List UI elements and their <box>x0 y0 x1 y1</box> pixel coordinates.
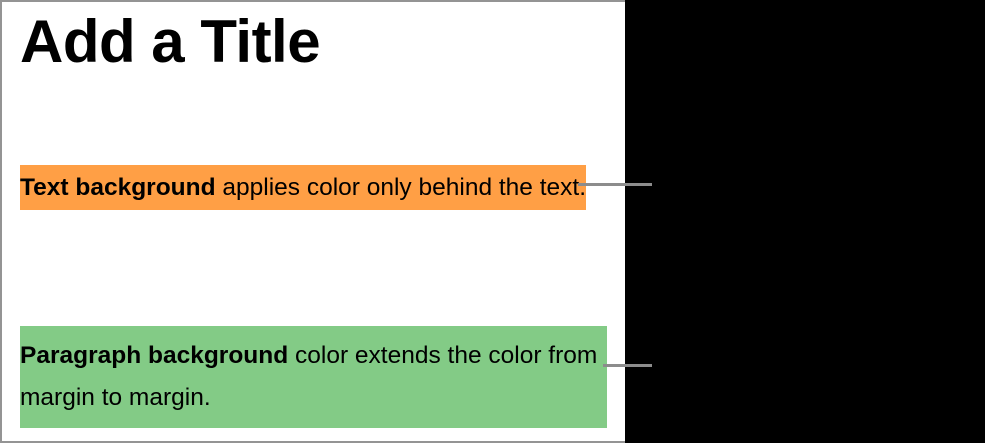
screenshot-root: Add a Title Text background applies colo… <box>0 0 985 443</box>
paragraph-body-text-background: applies color only behind the text. <box>216 174 586 201</box>
paragraph-lead-paragraph-background: Paragraph background <box>20 342 288 369</box>
callout-line-text-background <box>578 183 652 186</box>
paragraph-paragraph-background[interactable]: Paragraph background color extends the c… <box>20 326 607 428</box>
document-page: Add a Title Text background applies colo… <box>0 0 625 443</box>
page-title[interactable]: Add a Title <box>20 8 320 75</box>
text-background-highlight: Text background applies color only behin… <box>20 165 586 210</box>
paragraph-lead-text-background: Text background <box>20 174 216 201</box>
callout-line-paragraph-background <box>603 364 652 367</box>
paragraph-text-background[interactable]: Text background applies color only behin… <box>20 167 612 209</box>
